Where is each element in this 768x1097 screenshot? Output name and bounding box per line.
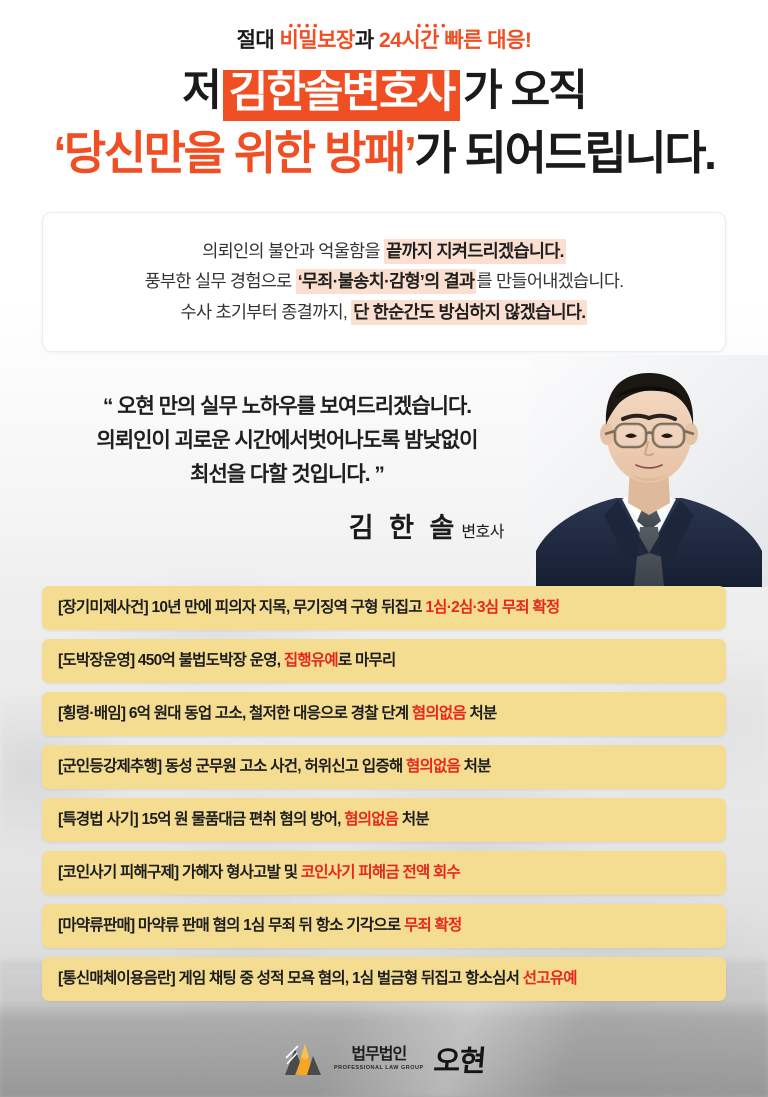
headline1-highlight-box: 김한솔변호사 [223,70,460,121]
description-line-1: 의뢰인의 불안과 억울함을 끝까지 지켜드리겠습니다. [202,242,566,261]
case-result-row[interactable]: [군인등강제추행] 동성 군무원 고소 사건, 허위신고 입증해 혐의없음 처분 [42,745,726,789]
poster-root: • • • • • • • • 절대 비밀보장과 24시간 빠른 대응! 저김한… [0,0,768,1097]
desc2-a: 풍부한 실무 경험으로 [145,271,296,291]
case-result: 혐의없음 [344,811,398,828]
headline2-shield-phrase: ‘당신만을 위한 방패’ [53,127,414,179]
case-result: 집행유예 [284,652,338,669]
law-firm-brand: 오현 [432,1038,487,1080]
case-text: [특경법 사기] 15억 원 물품대금 편취 혐의 방어, 혐의없음 처분 [58,812,429,828]
case-results-list: [장기미제사건] 10년 만에 피의자 지목, 무기징역 구형 뒤집고 1심·2… [42,586,726,1001]
case-result: 무죄 확정 [404,917,462,934]
case-result: 코인사기 피해금 전액 회수 [301,864,460,881]
case-tail: 처분 [398,811,429,828]
case-tail: 처분 [466,705,497,722]
case-tag: [장기미제사건] [58,599,148,616]
case-text: [횡령·배임] 6억 원대 동업 고소, 철저한 대응으로 경찰 단계 혐의없음… [58,706,497,722]
case-result: 혐의없음 [406,758,460,775]
tagline-part-2: 과 [355,29,379,52]
case-tail: 처분 [460,758,491,775]
desc2-highlight: ‘무죄·불송치·감형’의 결과 [296,269,477,294]
case-body: 동성 군무원 고소 사건, 허위신고 입증해 [161,758,406,775]
case-result-row[interactable]: [마약류판매] 마약류 판매 혐의 1심 무죄 뒤 항소 기각으로 무죄 확정 [42,904,726,948]
case-result-row[interactable]: [장기미제사건] 10년 만에 피의자 지목, 무기징역 구형 뒤집고 1심·2… [42,586,726,630]
case-tag: [횡령·배임] [58,705,125,722]
desc1-a: 의뢰인의 불안과 억울함을 [202,241,384,261]
case-result-row[interactable]: [특경법 사기] 15억 원 물품대금 편취 혐의 방어, 혐의없음 처분 [42,798,726,842]
tagline-accent-1: 비밀보장 [280,29,355,52]
description-line-3: 수사 초기부터 종결까지, 단 한순간도 방심하지 않겠습니다. [181,303,588,322]
case-result-row[interactable]: [횡령·배임] 6억 원대 동업 고소, 철저한 대응으로 경찰 단계 혐의없음… [42,692,726,736]
headline2-suffix: 가 되어드립니다. [414,127,714,179]
law-firm-name-block: 법무법인 PROFESSIONAL LAW GROUP [334,1047,424,1072]
case-body: 6억 원대 동업 고소, 철저한 대응으로 경찰 단계 [125,705,412,722]
case-body: 15억 원 물품대금 편취 혐의 방어, [138,811,344,828]
quote-block: “ 오현 만의 실무 노하우를 보여드리겠습니다. 의뢰인이 괴로운 시간에서벗… [52,390,522,545]
case-text: [마약류판매] 마약류 판매 혐의 1심 무죄 뒤 항소 기각으로 무죄 확정 [58,918,462,934]
case-tag: [통신매체이용음란] [58,970,175,987]
desc1-highlight: 끝까지 지켜드리겠습니다. [384,239,566,264]
tagline-accent-2: 24시간 빠른 대응! [379,29,531,52]
desc2-b: 를 만들어내겠습니다. [476,271,623,291]
quote-line-2: 의뢰인이 괴로운 시간에서벗어나도록 밤낮없이 [52,424,522,458]
case-tail: 로 마무리 [338,652,396,669]
signature-title: 변호사 [461,524,504,541]
case-result: 1심·2심·3심 무죄 확정 [425,599,559,616]
law-firm-name-en: PROFESSIONAL LAW GROUP [334,1066,424,1072]
case-tag: [코인사기 피해구제] [58,864,178,881]
law-firm-mark-icon [283,1042,323,1076]
headline-line-2: ‘당신만을 위한 방패’가 되어드립니다. [0,130,768,177]
case-tag: [특경법 사기] [58,811,138,828]
law-firm-name-kr: 법무법인 [351,1047,406,1063]
headline1-suffix: 가 오직 [463,67,586,115]
case-body: 마약류 판매 혐의 1심 무죄 뒤 항소 기각으로 [134,917,404,934]
case-tag: [마약류판매] [58,917,134,934]
case-text: [코인사기 피해구제] 가해자 형사고발 및 코인사기 피해금 전액 회수 [58,865,460,881]
case-text: [장기미제사건] 10년 만에 피의자 지목, 무기징역 구형 뒤집고 1심·2… [58,600,559,616]
case-body: 10년 만에 피의자 지목, 무기징역 구형 뒤집고 [148,599,425,616]
case-result-row[interactable]: [코인사기 피해구제] 가해자 형사고발 및 코인사기 피해금 전액 회수 [42,851,726,895]
tagline-part-1: 절대 [237,29,280,52]
case-body: 450억 불법도박장 운영, [134,652,283,669]
tagline: • • • • • • • • 절대 비밀보장과 24시간 빠른 대응! [237,30,532,51]
lawyer-portrait-photo [530,355,768,587]
header: • • • • • • • • 절대 비밀보장과 24시간 빠른 대응! 저김한… [0,0,768,177]
desc3-a: 수사 초기부터 종결까지, [181,302,352,322]
headline1-prefix: 저 [182,67,220,115]
footer: 법무법인 PROFESSIONAL LAW GROUP 오현 [0,1021,768,1097]
case-result: 혐의없음 [412,705,466,722]
quote-signature: 김 한 솔변호사 [52,506,522,545]
quote-line-1: “ 오현 만의 실무 노하우를 보여드리겠습니다. [52,390,522,424]
case-body: 가해자 형사고발 및 [178,864,300,881]
case-result: 선고유예 [523,970,577,987]
case-text: [도박장운영] 450억 불법도박장 운영, 집행유예로 마무리 [58,653,396,669]
description-line-2: 풍부한 실무 경험으로 ‘무죄·불송치·감형’의 결과를 만들어내겠습니다. [145,272,624,291]
signature-name: 김 한 솔 [349,513,459,543]
case-result-row[interactable]: [도박장운영] 450억 불법도박장 운영, 집행유예로 마무리 [42,639,726,683]
case-text: [통신매체이용음란] 게임 채팅 중 성적 모욕 혐의, 1심 벌금형 뒤집고 … [58,971,577,987]
description-card: 의뢰인의 불안과 억울함을 끝까지 지켜드리겠습니다. 풍부한 실무 경험으로 … [42,212,726,352]
headline-line-1: 저김한솔변호사가 오직 [0,70,768,121]
quote-line-3: 최선을 다할 것입니다. ” [52,458,522,492]
case-result-row[interactable]: [통신매체이용음란] 게임 채팅 중 성적 모욕 혐의, 1심 벌금형 뒤집고 … [42,957,726,1001]
case-body: 게임 채팅 중 성적 모욕 혐의, 1심 벌금형 뒤집고 항소심서 [175,970,523,987]
law-firm-wordmark: 법무법인 PROFESSIONAL LAW GROUP 오현 [334,1038,485,1080]
case-tag: [군인등강제추행] [58,758,161,775]
case-tag: [도박장운영] [58,652,134,669]
desc3-highlight: 단 한순간도 방심하지 않겠습니다. [351,300,587,325]
case-text: [군인등강제추행] 동성 군무원 고소 사건, 허위신고 입증해 혐의없음 처분 [58,759,491,775]
